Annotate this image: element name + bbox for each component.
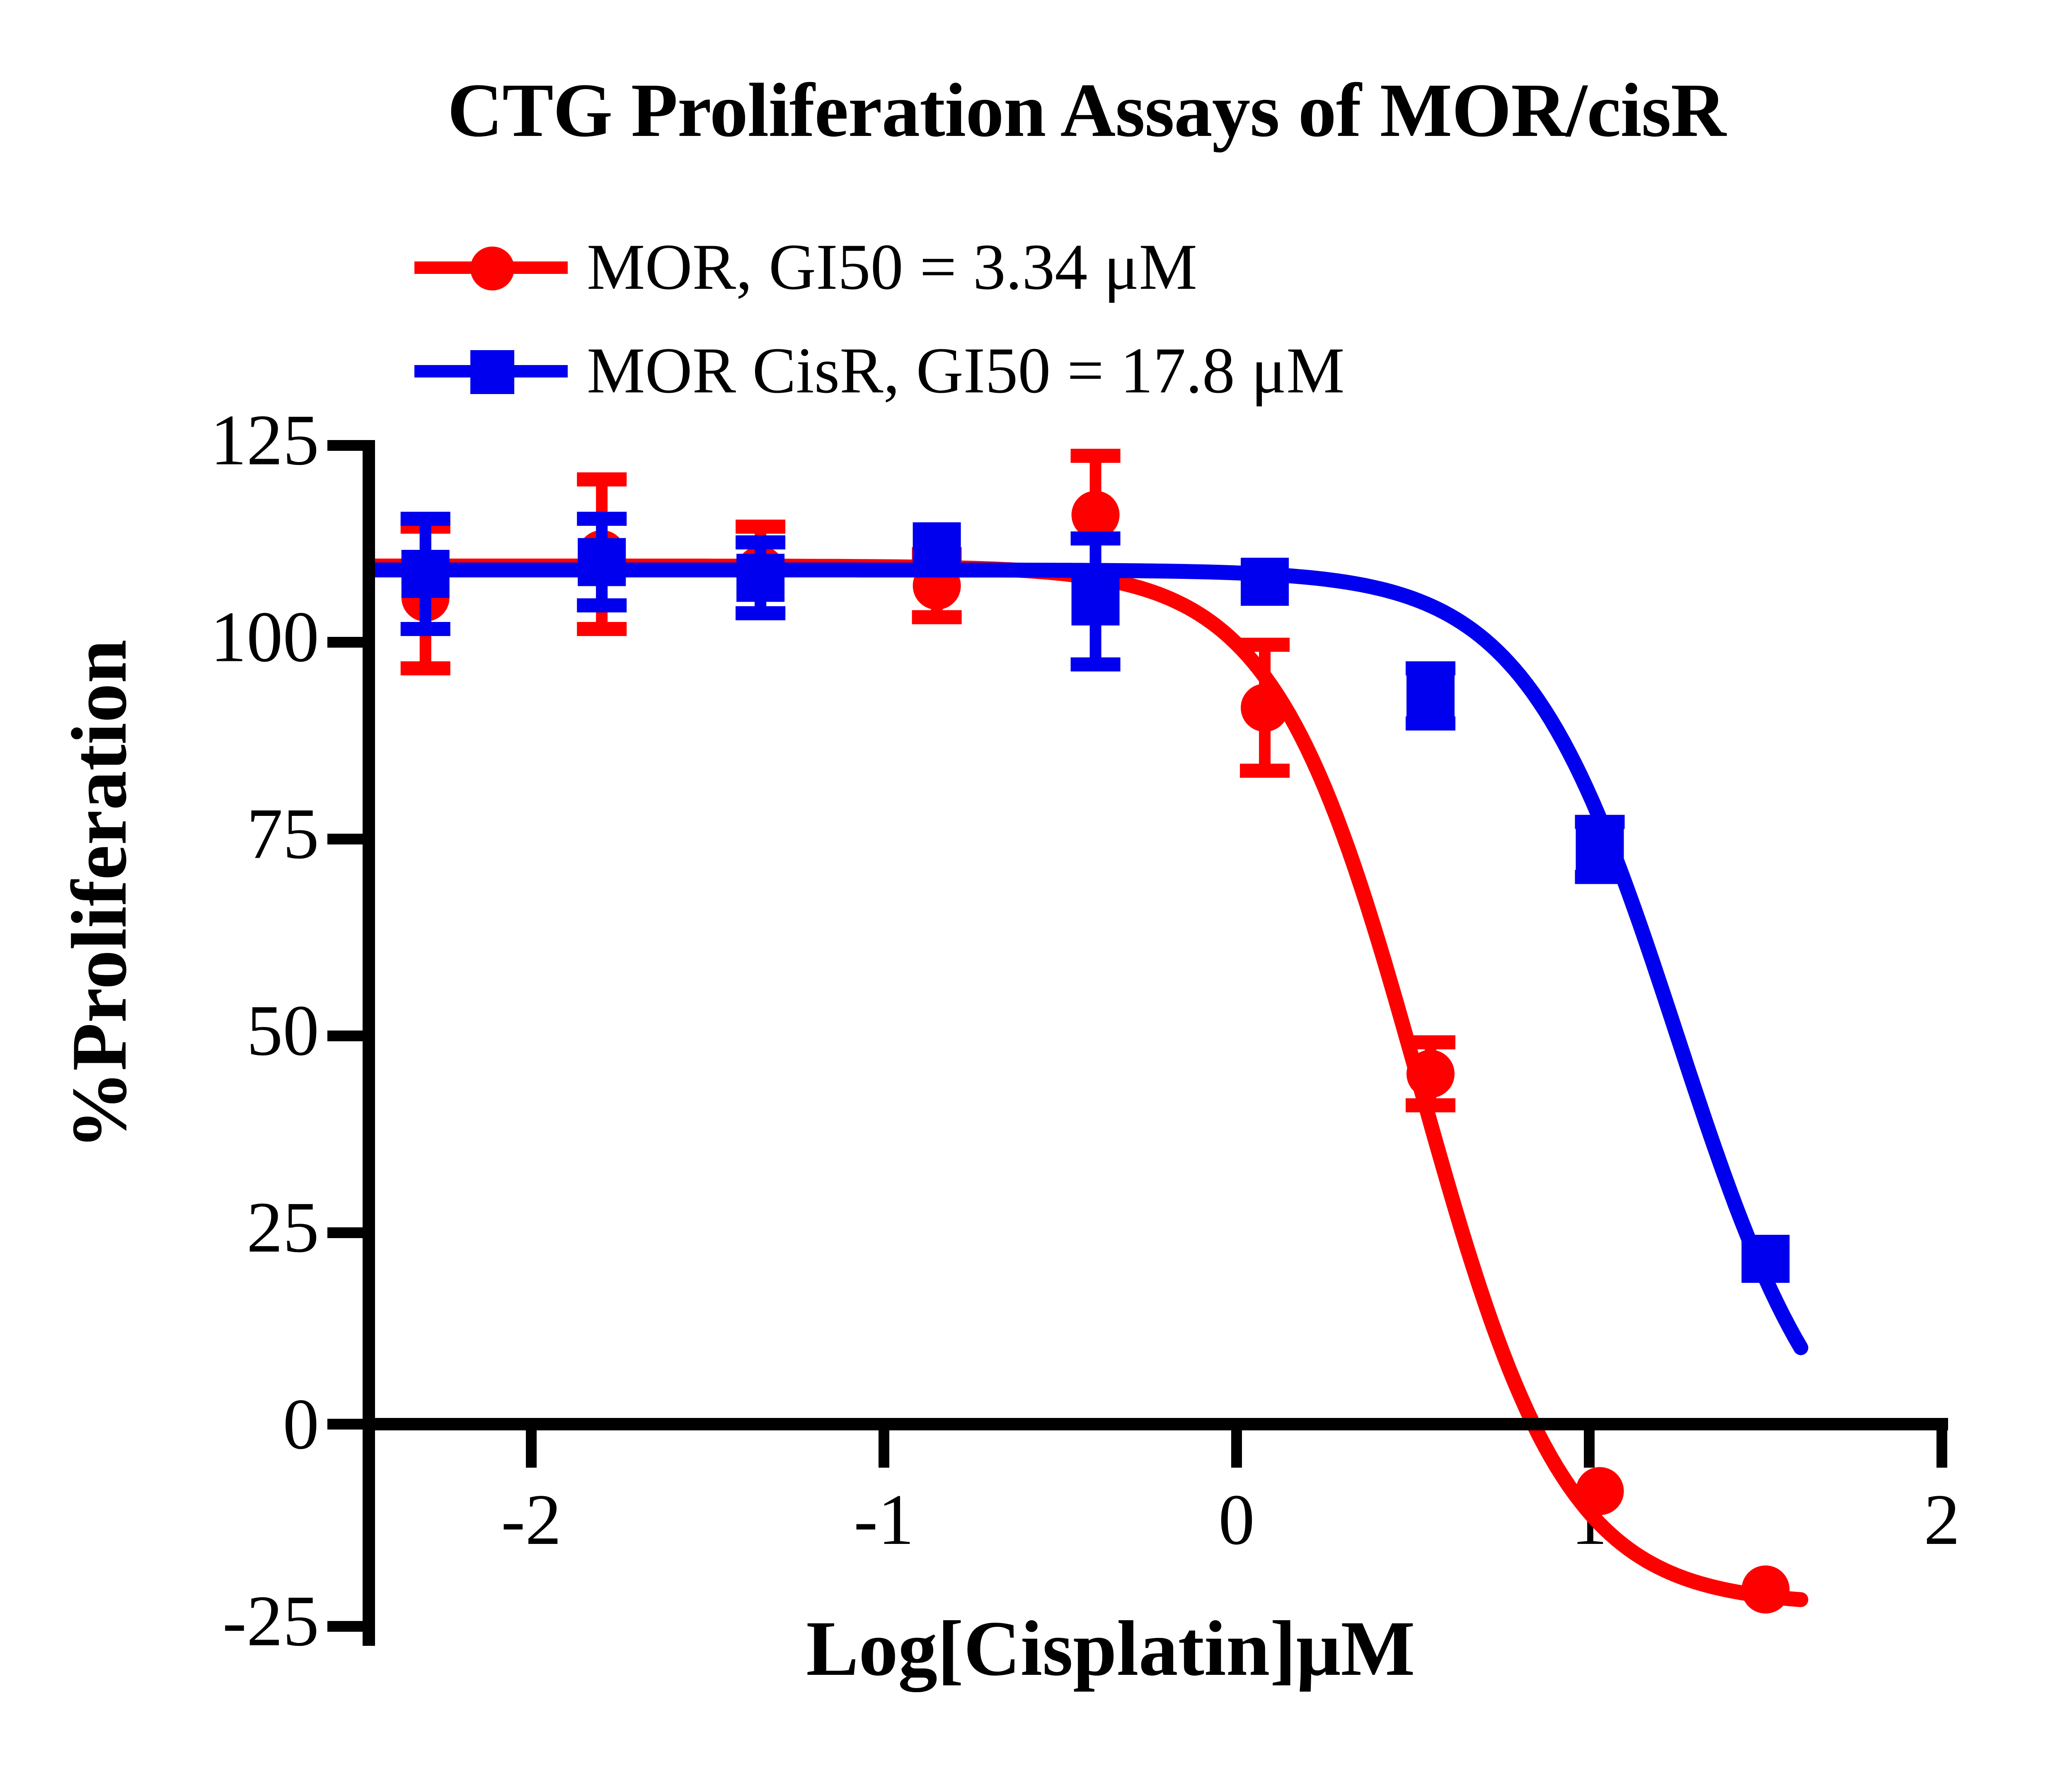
x-tick-1 <box>1584 1430 1595 1468</box>
data-point-marker <box>1406 672 1455 720</box>
data-point-marker <box>402 550 450 598</box>
data-point-marker <box>1742 1235 1790 1283</box>
data-point-marker <box>1406 1050 1455 1098</box>
x-tick-neg2 <box>526 1430 537 1468</box>
x-tick-neg1 <box>879 1430 889 1468</box>
y-tick-50 <box>327 1031 365 1041</box>
data-point-marker <box>1072 578 1120 626</box>
data-point-marker <box>578 538 626 586</box>
plot-canvas <box>0 0 2072 1766</box>
y-tick-75 <box>327 834 365 844</box>
series-mor-cisr <box>373 519 1801 1348</box>
fit-curve <box>373 570 1801 1348</box>
data-point-marker <box>1742 1565 1790 1614</box>
data-point-marker <box>736 554 784 602</box>
x-tick-2 <box>1936 1430 1947 1468</box>
data-point-marker <box>1576 825 1624 873</box>
data-point-marker <box>1576 1467 1624 1515</box>
x-tick-0 <box>1231 1430 1242 1468</box>
chart-figure: CTG Proliferation Assays of MOR/cisR MOR… <box>0 0 2072 1766</box>
data-point-marker <box>1241 684 1289 732</box>
data-point-marker <box>913 523 961 571</box>
y-tick-neg25 <box>327 1621 365 1632</box>
data-point-marker <box>1241 558 1289 606</box>
y-axis-spine <box>363 440 375 1646</box>
y-tick-0 <box>327 1419 365 1430</box>
y-tick-100 <box>327 637 365 648</box>
x-axis-spine <box>363 1418 1948 1430</box>
y-tick-25 <box>327 1227 365 1238</box>
y-tick-125 <box>327 440 365 451</box>
